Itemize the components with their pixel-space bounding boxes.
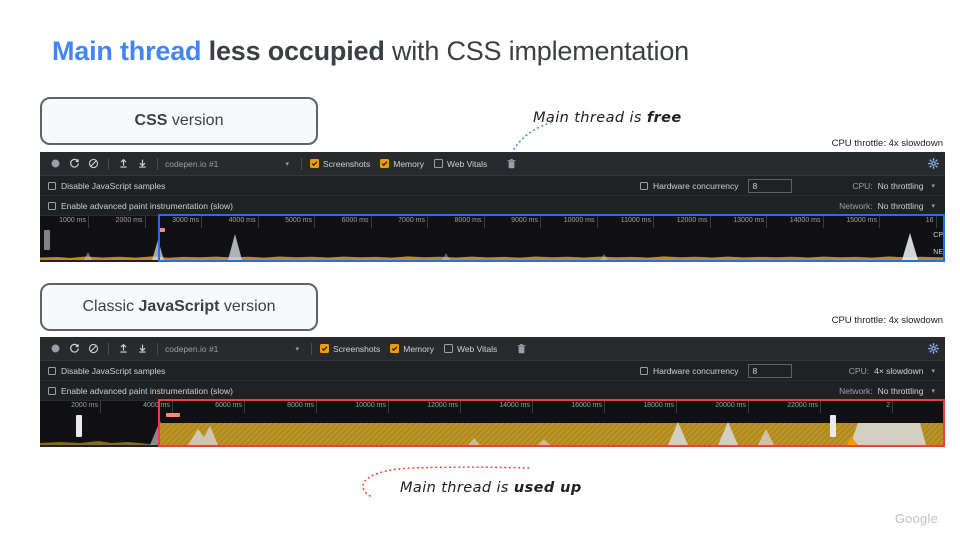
google-watermark: Google <box>895 511 938 526</box>
trash-icon[interactable] <box>507 159 516 169</box>
timeline-tick-label: 12000 ms <box>427 402 458 409</box>
checkbox-memory-label: Memory <box>403 344 434 354</box>
timeline-tick-label: 10000 ms <box>355 402 386 409</box>
checkbox-web-vitals-box[interactable] <box>434 159 443 168</box>
devtools-toolbar-js[interactable]: codepen.io #1 ▾ Screenshots Memory Web V… <box>40 337 945 361</box>
timeline-edge-label-cpu-css: CP <box>933 232 943 239</box>
toolbar-divider-2 <box>157 158 158 170</box>
timeline-tick-label: 12000 ms <box>677 217 708 224</box>
gear-icon[interactable] <box>920 158 939 169</box>
checkbox-advanced-paint[interactable]: Enable advanced paint instrumentation (s… <box>48 386 233 396</box>
toolbar-checkbox-group-js[interactable]: Screenshots Memory Web Vitals <box>320 344 526 354</box>
js-pill-suffix: version <box>224 298 276 316</box>
target-select-css[interactable]: codepen.io #1 ▾ <box>163 159 295 169</box>
timeline-tick-label: 14000 ms <box>790 217 821 224</box>
timeline-scroll-handle-css[interactable] <box>44 230 50 250</box>
title-part-bold: less occupied <box>209 36 385 66</box>
checkbox-advanced-paint-label: Enable advanced paint instrumentation (s… <box>61 386 233 396</box>
devtools-options-row1-css[interactable]: Disable JavaScript samples Hardware conc… <box>40 176 945 196</box>
target-select-js[interactable]: codepen.io #1 ▾ <box>163 344 305 354</box>
checkbox-disable-js-samples[interactable]: Disable JavaScript samples <box>48 366 165 376</box>
timeline-track-js[interactable] <box>40 413 945 445</box>
cpu-throttling-label: CPU: <box>852 181 872 191</box>
js-version-label: Classic JavaScript version <box>40 283 318 331</box>
timeline-tick-label: 8000 ms <box>455 217 482 224</box>
download-icon[interactable] <box>133 340 151 358</box>
cpu-throttle-caption-js: CPU throttle: 4x slowdown <box>700 315 943 326</box>
timeline-edge-label-network-css: NE <box>933 249 943 256</box>
checkbox-screenshots[interactable]: Screenshots <box>310 159 370 169</box>
timeline-tick-label: 14000 ms <box>499 402 530 409</box>
checkbox-hardware-concurrency-box[interactable] <box>640 182 648 190</box>
checkbox-disable-js-samples-label: Disable JavaScript samples <box>61 366 165 376</box>
checkbox-memory-box[interactable] <box>380 159 389 168</box>
timeline-tick-label: 16 <box>926 217 934 224</box>
timeline-marker-css <box>158 228 165 232</box>
timeline-tick-label: 4000 ms <box>229 217 256 224</box>
checkbox-memory[interactable]: Memory <box>380 159 424 169</box>
annotation-main-thread-free: Main thread is free <box>533 110 682 126</box>
checkbox-web-vitals-label: Web Vitals <box>457 344 497 354</box>
cpu-throttling-value: No throttling <box>878 181 924 191</box>
css-pill-bold: CSS <box>135 112 168 130</box>
timeline-tick-label: 7000 ms <box>398 217 425 224</box>
record-icon[interactable] <box>46 155 64 173</box>
checkbox-screenshots-label: Screenshots <box>333 344 380 354</box>
timeline-overview-js[interactable]: 2000 ms4000 ms6000 ms8000 ms10000 ms1200… <box>40 401 945 445</box>
checkbox-memory[interactable]: Memory <box>390 344 434 354</box>
timeline-overview-css[interactable]: 1000 ms2000 ms3000 ms4000 ms5000 ms6000 … <box>40 216 945 260</box>
checkbox-web-vitals[interactable]: Web Vitals <box>444 344 497 354</box>
css-pill-regular: version <box>172 112 224 130</box>
target-select-label: codepen.io #1 <box>165 344 218 354</box>
checkbox-screenshots-label: Screenshots <box>323 159 370 169</box>
timeline-tick-label: 8000 ms <box>287 402 314 409</box>
timeline-tick-label: 6000 ms <box>215 402 242 409</box>
timeline-track-css[interactable] <box>40 228 945 260</box>
cpu-throttling-value: 4× slowdown <box>874 366 923 376</box>
js-pill-bold: JavaScript <box>139 298 220 316</box>
clear-icon[interactable] <box>84 340 102 358</box>
chevron-down-icon: ▾ <box>931 202 935 210</box>
checkbox-disable-js-samples[interactable]: Disable JavaScript samples <box>48 181 165 191</box>
timeline-tick-label: 2000 ms <box>116 217 143 224</box>
devtools-panel-css[interactable]: codepen.io #1 ▾ Screenshots Memory Web V… <box>40 152 945 262</box>
network-throttling-value: No throttling <box>878 201 924 211</box>
toolbar-divider-3 <box>311 343 312 355</box>
timeline-tick-label: 9000 ms <box>511 217 538 224</box>
network-throttling-select-js[interactable]: Network: No throttling ▾ <box>839 386 935 396</box>
timeline-marker-js <box>166 413 180 417</box>
timeline-scroll-handle-js-right[interactable] <box>830 415 836 437</box>
cpu-activity-chart-js <box>40 413 945 445</box>
checkbox-advanced-paint-box[interactable] <box>48 387 56 395</box>
toolbar-checkbox-group-css[interactable]: Screenshots Memory Web Vitals <box>310 159 516 169</box>
timeline-tick-label: 15000 ms <box>846 217 877 224</box>
timeline-tick-label: 20000 ms <box>715 402 746 409</box>
network-throttling-select-css[interactable]: Network: No throttling ▾ <box>839 201 935 211</box>
timeline-scroll-handle-js[interactable] <box>76 415 82 437</box>
checkbox-web-vitals-box[interactable] <box>444 344 453 353</box>
css-version-label: CSS version <box>40 97 318 145</box>
hardware-concurrency-input[interactable]: 8 <box>748 364 792 378</box>
devtools-toolbar-css[interactable]: codepen.io #1 ▾ Screenshots Memory Web V… <box>40 152 945 176</box>
chevron-down-icon: ▾ <box>295 345 305 353</box>
checkbox-memory-label: Memory <box>393 159 424 169</box>
devtools-options-row2-css[interactable]: Enable advanced paint instrumentation (s… <box>40 196 945 216</box>
annotation-free-regular: Main thread is <box>533 110 642 126</box>
timeline-tick-label: 18000 ms <box>643 402 674 409</box>
title-part-regular: with CSS implementation <box>392 36 689 66</box>
cpu-throttling-select-css[interactable]: CPU: No throttling ▾ <box>852 181 935 191</box>
timeline-tick-label: 4000 ms <box>143 402 170 409</box>
checkbox-advanced-paint[interactable]: Enable advanced paint instrumentation (s… <box>48 201 233 211</box>
chevron-down-icon: ▾ <box>931 367 935 375</box>
record-icon[interactable] <box>46 340 64 358</box>
hardware-concurrency-label: Hardware concurrency <box>653 181 739 191</box>
devtools-options-row2-js[interactable]: Enable advanced paint instrumentation (s… <box>40 381 945 401</box>
timeline-tick-label: 13000 ms <box>733 217 764 224</box>
gear-icon[interactable] <box>920 343 939 354</box>
network-throttling-label: Network: <box>839 386 873 396</box>
chevron-down-icon: ▾ <box>931 182 935 190</box>
devtools-panel-javascript[interactable]: codepen.io #1 ▾ Screenshots Memory Web V… <box>40 337 945 447</box>
checkbox-hardware-concurrency[interactable]: Hardware concurrency 8 <box>640 179 792 193</box>
cpu-activity-chart-css <box>40 228 945 260</box>
checkbox-screenshots-box[interactable] <box>320 344 329 353</box>
clear-icon[interactable] <box>84 155 102 173</box>
checkbox-screenshots-box[interactable] <box>310 159 319 168</box>
checkbox-hardware-concurrency-box[interactable] <box>640 367 648 375</box>
hardware-concurrency-label: Hardware concurrency <box>653 366 739 376</box>
timeline-tick-label: 1000 ms <box>59 217 86 224</box>
network-throttling-value: No throttling <box>878 386 924 396</box>
devtools-options-row1-js[interactable]: Disable JavaScript samples Hardware conc… <box>40 361 945 381</box>
annotation-main-thread-used-up: Main thread is used up <box>400 480 582 496</box>
checkbox-memory-box[interactable] <box>390 344 399 353</box>
chevron-down-icon: ▾ <box>285 160 295 168</box>
annotation-used-bold: used up <box>514 480 582 496</box>
checkbox-hardware-concurrency[interactable]: Hardware concurrency 8 <box>640 364 792 378</box>
checkbox-advanced-paint-box[interactable] <box>48 202 56 210</box>
checkbox-web-vitals-label: Web Vitals <box>447 159 487 169</box>
timeline-tick-label: 22000 ms <box>787 402 818 409</box>
slide-root: Main thread less occupied with CSS imple… <box>0 0 960 540</box>
annotation-free-bold: free <box>647 110 682 126</box>
upload-icon[interactable] <box>114 340 132 358</box>
target-select-label: codepen.io #1 <box>165 159 218 169</box>
checkbox-disable-js-samples-box[interactable] <box>48 182 56 190</box>
chevron-down-icon: ▾ <box>931 387 935 395</box>
upload-icon[interactable] <box>114 155 132 173</box>
toolbar-divider-2 <box>157 343 158 355</box>
timeline-tick-label: 10000 ms <box>564 217 595 224</box>
reload-icon[interactable] <box>65 340 83 358</box>
checkbox-advanced-paint-label: Enable advanced paint instrumentation (s… <box>61 201 233 211</box>
js-pill-prefix: Classic <box>83 298 135 316</box>
cpu-throttling-select-js[interactable]: CPU: 4× slowdown ▾ <box>849 366 935 376</box>
network-throttling-label: Network: <box>839 201 873 211</box>
timeline-tick-label: 2000 ms <box>71 402 98 409</box>
timeline-tick-label: 3000 ms <box>172 217 199 224</box>
timeline-tick-label: 11000 ms <box>621 217 651 224</box>
checkbox-disable-js-samples-label: Disable JavaScript samples <box>61 181 165 191</box>
toolbar-divider-1 <box>108 343 109 355</box>
checkbox-disable-js-samples-box[interactable] <box>48 367 56 375</box>
cpu-throttling-label: CPU: <box>849 366 869 376</box>
checkbox-web-vitals[interactable]: Web Vitals <box>434 159 487 169</box>
checkbox-screenshots[interactable]: Screenshots <box>320 344 380 354</box>
title-part-blue: Main thread <box>52 36 201 66</box>
timeline-tick-label: 16000 ms <box>571 402 602 409</box>
hardware-concurrency-input[interactable]: 8 <box>748 179 792 193</box>
toolbar-divider-3 <box>301 158 302 170</box>
reload-icon[interactable] <box>65 155 83 173</box>
annotation-used-regular: Main thread is <box>400 480 509 496</box>
toolbar-divider-1 <box>108 158 109 170</box>
timeline-tick-label: 2 <box>886 402 890 409</box>
cpu-throttle-caption-css: CPU throttle: 4x slowdown <box>700 138 943 149</box>
timeline-tick-label: 5000 ms <box>285 217 312 224</box>
trash-icon[interactable] <box>517 344 526 354</box>
download-icon[interactable] <box>133 155 151 173</box>
timeline-tick-label: 6000 ms <box>342 217 369 224</box>
page-title: Main thread less occupied with CSS imple… <box>52 36 689 67</box>
